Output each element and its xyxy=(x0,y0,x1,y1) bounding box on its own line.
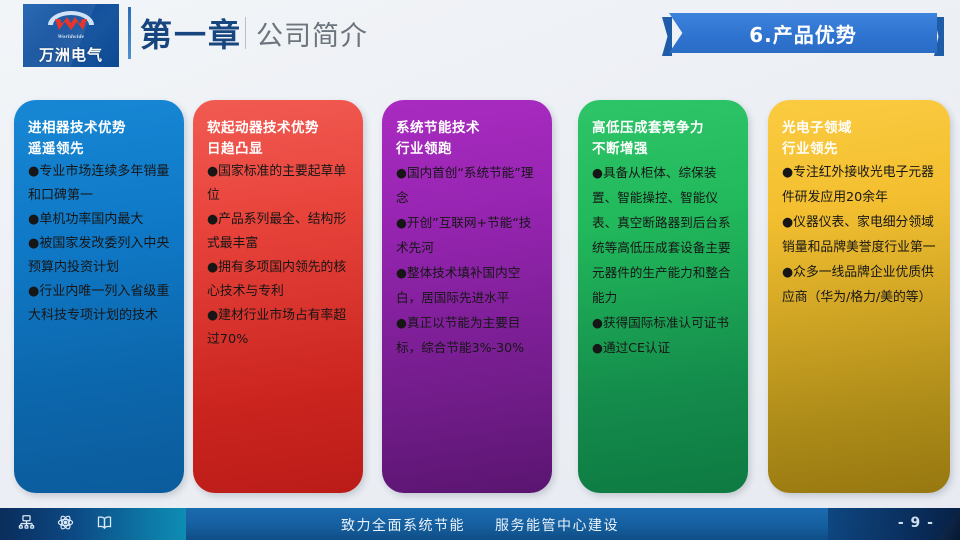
bullet-line: ●通过CE认证 xyxy=(592,335,738,360)
card-2-heading-line2: 日趋凸显 xyxy=(207,139,353,159)
bullet-line: ●专业市场连续多年销量和口碑第一 xyxy=(28,160,174,208)
advantage-card-2[interactable]: 软起动器技术优势 日趋凸显 ●国家标准的主要起草单位●产品系列最全、结构形式最丰… xyxy=(193,100,363,493)
logo-company-name: 万洲电气 xyxy=(23,44,119,65)
bullet-line: ●开创”互联网+节能“技术先河 xyxy=(396,210,542,260)
card-5-body: ●专注红外接收光电子元器件研发应用20余年●仪器仪表、家电细分领域销量和品牌美誉… xyxy=(782,160,940,310)
bullet-line: ●仪器仪表、家电细分领域销量和品牌美誉度行业第一 xyxy=(782,210,940,260)
card-2-body: ●国家标准的主要起草单位●产品系列最全、结构形式最丰富●拥有多项国内领先的核心技… xyxy=(207,160,353,352)
footer-slogan: 致力全面系统节能 服务能管中心建设 xyxy=(0,515,960,535)
advantage-card-1[interactable]: 进相器技术优势 遥遥领先 ●专业市场连续多年销量和口碑第一●单机功率国内最大●被… xyxy=(14,100,184,493)
bullet-line: ●单机功率国内最大 xyxy=(28,208,174,232)
ribbon-body: 6.产品优势 xyxy=(669,13,937,53)
card-3-heading-line2: 行业领跑 xyxy=(396,139,542,159)
card-3-heading-line1: 系统节能技术 xyxy=(396,118,542,138)
bullet-line: ●被国家发改委列入中央预算内投资计划 xyxy=(28,232,174,280)
advantage-card-5[interactable]: 光电子领域 行业领先 ●专注红外接收光电子元器件研发应用20余年●仪器仪表、家电… xyxy=(768,100,950,493)
advantage-card-3[interactable]: 系统节能技术 行业领跑 ●国内首创“系统节能”理念●开创”互联网+节能“技术先河… xyxy=(382,100,552,493)
bullet-line: ●专注红外接收光电子元器件研发应用20余年 xyxy=(782,160,940,210)
bullet-line: ●真正以节能为主要目标，综合节能3%-30% xyxy=(396,310,542,360)
card-4-heading-line1: 高低压成套竞争力 xyxy=(592,118,738,138)
w-shield-emblem-icon xyxy=(45,11,97,33)
bullet-line: ●国内首创“系统节能”理念 xyxy=(396,160,542,210)
advantage-card-4[interactable]: 高低压成套竞争力 不断增强 ●具备从柜体、综保装置、智能操控、智能仪表、真空断路… xyxy=(578,100,748,493)
section-title-text: 6.产品优势 xyxy=(749,19,857,48)
card-1-heading-line1: 进相器技术优势 xyxy=(28,118,174,138)
section-title-ribbon: 6.产品优势 xyxy=(662,13,944,56)
chapter-subtitle: 公司简介 xyxy=(256,14,368,53)
page-number: - 9 - xyxy=(898,515,934,531)
bullet-line: ●具备从柜体、综保装置、智能操控、智能仪表、真空断路器到后台系统等高低压成套设备… xyxy=(592,160,738,310)
card-5-heading-line1: 光电子领域 xyxy=(782,118,940,138)
company-logo: Worldwide 万洲电气 xyxy=(23,4,119,67)
card-1-heading-line2: 遥遥领先 xyxy=(28,139,174,159)
bullet-line: ●获得国际标准认可证书 xyxy=(592,310,738,335)
chapter-separator xyxy=(245,17,246,49)
bullet-line: ●整体技术填补国内空白，居国际先进水平 xyxy=(396,260,542,310)
bullet-line: ●产品系列最全、结构形式最丰富 xyxy=(207,208,353,256)
header-divider xyxy=(128,7,131,59)
bullet-line: ●国家标准的主要起草单位 xyxy=(207,160,353,208)
bullet-line: ●建材行业市场占有率超过70% xyxy=(207,304,353,352)
advantage-cards: 进相器技术优势 遥遥领先 ●专业市场连续多年销量和口碑第一●单机功率国内最大●被… xyxy=(0,100,960,496)
ribbon-left-tab xyxy=(662,17,672,56)
footer-slogan-right: 服务能管中心建设 xyxy=(495,518,619,534)
footer-slogan-left: 致力全面系统节能 xyxy=(341,518,465,534)
bullet-line: ●众多一线品牌企业优质供应商（华为/格力/美的等） xyxy=(782,260,940,310)
slide-header: Worldwide 万洲电气 第一章 公司简介 6.产品优势 xyxy=(0,0,960,80)
card-3-body: ●国内首创“系统节能”理念●开创”互联网+节能“技术先河●整体技术填补国内空白，… xyxy=(396,160,542,360)
bullet-line: ●行业内唯一列入省级重大科技专项计划的技术 xyxy=(28,280,174,328)
slide-footer: 致力全面系统节能 服务能管中心建设 - 9 - xyxy=(0,508,960,540)
card-1-body: ●专业市场连续多年销量和口碑第一●单机功率国内最大●被国家发改委列入中央预算内投… xyxy=(28,160,174,328)
card-4-body: ●具备从柜体、综保装置、智能操控、智能仪表、真空断路器到后台系统等高低压成套设备… xyxy=(592,160,738,360)
bullet-line: ●拥有多项国内领先的核心技术与专利 xyxy=(207,256,353,304)
card-5-heading-line2: 行业领先 xyxy=(782,139,940,159)
card-2-heading-line1: 软起动器技术优势 xyxy=(207,118,353,138)
chapter-title: 第一章 xyxy=(140,10,242,56)
logo-sub-text: Worldwide xyxy=(23,34,119,40)
card-4-heading-line2: 不断增强 xyxy=(592,139,738,159)
